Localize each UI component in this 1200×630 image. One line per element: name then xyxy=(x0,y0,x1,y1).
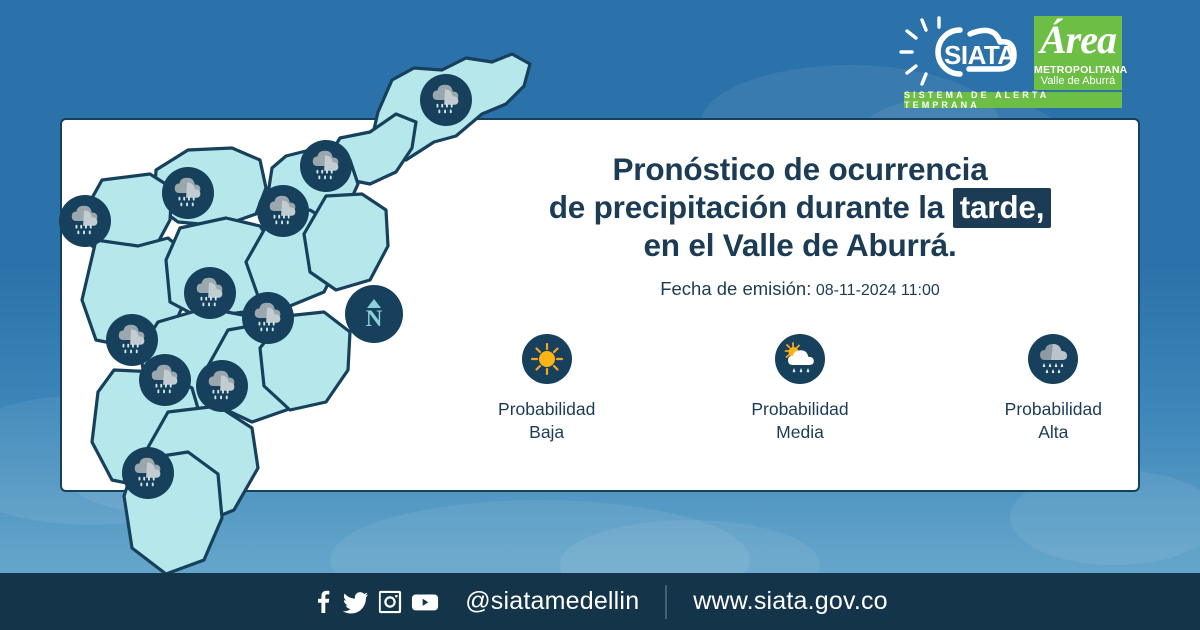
twitter-icon[interactable] xyxy=(343,589,369,615)
issue-date-value: 08-11-2024 11:00 xyxy=(816,282,940,299)
instagram-icon[interactable] xyxy=(378,589,402,615)
issue-date: Fecha de emisión: 08-11-2024 11:00 xyxy=(470,278,1130,300)
siata-logo: SIATA xyxy=(898,16,1028,88)
legend-media-line2: Media xyxy=(723,421,876,444)
map-weather-marker xyxy=(196,360,248,412)
legend-item-media: Probabilidad Media xyxy=(723,334,876,444)
issue-date-label: Fecha de emisión: xyxy=(660,278,811,299)
cloud-rain-icon xyxy=(191,274,229,312)
cloud-rain-icon xyxy=(66,202,104,240)
sun-icon xyxy=(529,341,565,377)
map-weather-marker xyxy=(300,140,352,192)
title-line-2: de precipitación durante la tarde, xyxy=(470,188,1130,226)
legend-icon-wrap xyxy=(522,334,572,384)
area-metropolitana-logo: Área METROPOLITANA Valle de Aburrá xyxy=(1034,16,1122,90)
legend-media-line1: Probabilidad xyxy=(723,398,876,421)
footer-bar: @siatamedellin www.siata.gov.co xyxy=(0,573,1200,630)
siata-sun-cloud-icon: SIATA xyxy=(898,16,1028,88)
area-script-text: Área xyxy=(1034,18,1122,62)
map-weather-marker xyxy=(184,267,236,319)
legend-icon-wrap xyxy=(1028,334,1078,384)
title-line-2-text: de precipitación durante la xyxy=(549,189,944,225)
cloud-rain-icon xyxy=(129,454,167,492)
map-weather-marker xyxy=(122,447,174,499)
cloud-rain-icon xyxy=(427,81,465,119)
cloud-rain-icon xyxy=(203,367,241,405)
map-weather-marker xyxy=(139,354,191,406)
legend-baja-line2: Baja xyxy=(470,421,623,444)
legend-label-baja: Probabilidad Baja xyxy=(470,398,623,444)
legend-label-media: Probabilidad Media xyxy=(723,398,876,444)
map-weather-marker xyxy=(162,167,214,219)
map-weather-marker xyxy=(242,292,294,344)
cloud-rain-icon xyxy=(113,321,151,359)
title-line-3: en el Valle de Aburrá. xyxy=(470,226,1130,264)
legend-label-alta: Probabilidad Alta xyxy=(977,398,1130,444)
compass-rose: N xyxy=(345,285,403,343)
cloud-rain-icon xyxy=(1035,341,1071,377)
sun-cloud-rain-icon xyxy=(782,341,818,377)
map-weather-marker xyxy=(420,74,472,126)
legend-baja-line1: Probabilidad xyxy=(470,398,623,421)
title-line-1: Pronóstico de ocurrencia xyxy=(470,150,1130,188)
page-title: Pronóstico de ocurrencia de precipitació… xyxy=(470,150,1130,264)
compass-north-label: N xyxy=(366,309,383,329)
area-line2: Valle de Aburrá xyxy=(1034,75,1122,87)
legend-item-baja: Probabilidad Baja xyxy=(470,334,623,444)
title-highlight-tarde: tarde, xyxy=(953,188,1052,228)
forecast-content: Pronóstico de ocurrencia de precipitació… xyxy=(470,150,1130,444)
cloud-rain-icon xyxy=(264,192,302,230)
svg-text:SIATA: SIATA xyxy=(944,40,1016,70)
legend-item-alta: Probabilidad Alta xyxy=(977,334,1130,444)
cloud-rain-icon xyxy=(249,299,287,337)
legend-icon-wrap xyxy=(775,334,825,384)
cloud-rain-icon xyxy=(307,147,345,185)
social-icons xyxy=(312,589,439,615)
website-url[interactable]: www.siata.gov.co xyxy=(693,587,887,616)
infographic-root: SIATA Área METROPOLITANA Valle de Aburrá… xyxy=(0,0,1200,630)
facebook-icon[interactable] xyxy=(312,589,334,615)
logo-group: SIATA Área METROPOLITANA Valle de Aburrá xyxy=(898,16,1122,90)
legend-alta-line1: Probabilidad xyxy=(977,398,1130,421)
legend-alta-line2: Alta xyxy=(977,421,1130,444)
footer-divider xyxy=(665,585,667,619)
cloud-rain-icon xyxy=(169,174,207,212)
map-weather-marker xyxy=(257,185,309,237)
probability-legend: Probabilidad Baja xyxy=(470,334,1130,444)
tagline-bar: SISTEMA DE ALERTA TEMPRANA xyxy=(904,92,1122,108)
cloud-rain-icon xyxy=(146,361,184,399)
social-handle[interactable]: @siatamedellin xyxy=(465,587,639,616)
map-weather-marker xyxy=(59,195,111,247)
youtube-icon[interactable] xyxy=(411,589,439,615)
tagline-text: SISTEMA DE ALERTA TEMPRANA xyxy=(904,90,1122,110)
